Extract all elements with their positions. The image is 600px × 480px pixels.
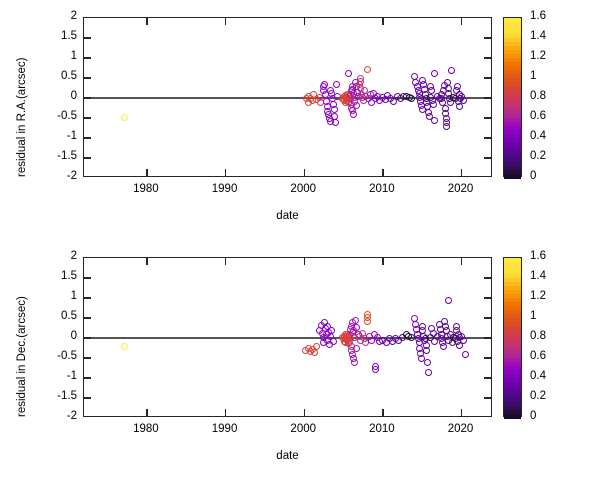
dec-x-tick-top [146,258,147,265]
data-point [408,95,415,102]
dec-x-tick-label: 1980 [116,424,176,436]
ra-y-tick-right [484,77,491,78]
dec-y-tick-label: 1.5 [39,271,77,283]
dec-y-tick [84,357,91,358]
dec-y-axis-title: residual in Dec.(arcsec) [16,296,28,417]
data-point [328,327,335,334]
ra-x-tick-label: 2010 [352,184,412,196]
data-point [313,343,320,350]
dec-x-axis-title: date [83,450,492,462]
data-point [353,324,360,331]
ra-y-tick-label: -0.5 [39,111,77,123]
data-point [453,323,460,330]
dec-colorbar-tick-label: 0.6 [530,351,546,363]
dec-x-tick-top [225,258,226,265]
ra-y-tick-label: 0 [39,91,77,103]
data-point [445,297,452,304]
ra-plot-area [83,17,492,177]
dec-x-tick [382,409,383,416]
data-point [357,78,364,85]
data-point [430,101,437,108]
dec-y-tick [84,297,91,298]
ra-x-tick-top [382,18,383,25]
dec-x-tick-label: 2000 [273,424,333,436]
ra-y-tick [84,97,91,98]
data-point [345,70,352,77]
data-point [460,97,467,104]
ra-y-tick-right [484,157,491,158]
data-point [440,343,447,350]
data-point [460,337,467,344]
ra-x-tick [225,169,226,176]
dec-y-tick-right [484,377,491,378]
dec-colorbar-tick-label: 1.2 [530,291,546,303]
dec-y-tick-right [484,277,491,278]
data-point [353,102,360,109]
data-point [448,67,455,74]
dec-y-tick [84,337,91,338]
ra-y-tick [84,77,91,78]
dec-colorbar-tick-label: 1 [530,311,536,323]
ra-y-tick-right [484,57,491,58]
data-point [350,111,357,118]
ra-y-tick-right [484,137,491,138]
ra-x-tick-label: 1990 [195,184,255,196]
dec-x-tick-top [461,258,462,265]
ra-x-tick-label: 1980 [116,184,176,196]
dec-colorbar-tick-label: 1.4 [530,271,546,283]
data-point [424,359,431,366]
dec-y-tick-right [484,337,491,338]
dec-y-tick [84,277,91,278]
ra-colorbar-tick-label: 0 [530,171,536,183]
data-point [353,345,360,352]
dec-x-tick-label: 2010 [352,424,412,436]
dec-x-tick-label: 1990 [195,424,255,436]
dec-y-tick-label: -1 [39,371,77,383]
dec-y-tick [84,397,91,398]
ra-y-tick-right [484,117,491,118]
ra-x-tick [304,169,305,176]
dec-y-tick [84,317,91,318]
dec-y-tick-right [484,297,491,298]
dec-plot-area [83,257,492,417]
ra-y-tick-right [484,97,491,98]
dec-y-tick-label: 0.5 [39,311,77,323]
data-point [364,311,371,318]
dec-data-layer [84,258,491,416]
dec-y-tick-label: -2 [39,411,77,423]
ra-x-axis-title: date [83,210,492,222]
panel-residual-ra: 21.510.50-0.5-1-1.5-21980199020002010202… [0,0,600,240]
dec-y-tick-right [484,397,491,398]
ra-y-tick-label: -2 [39,171,77,183]
ra-y-tick-label: -1.5 [39,151,77,163]
ra-colorbar-tick-label: 0.6 [530,111,546,123]
figure-residual-plots: 21.510.50-0.5-1-1.5-21980199020002010202… [0,0,600,480]
ra-colorbar-tick-label: 1.6 [530,11,546,23]
ra-x-tick-top [461,18,462,25]
ra-x-tick-label: 2020 [431,184,491,196]
ra-colorbar-tick-label: 0.4 [530,131,546,143]
data-point [462,351,469,358]
ra-y-tick [84,117,91,118]
data-point [431,117,438,124]
ra-colorbar-band [504,174,521,179]
dec-x-tick-top [304,258,305,265]
ra-y-tick [84,137,91,138]
ra-x-tick-label: 2000 [273,184,333,196]
data-point [352,317,359,324]
data-point [454,83,461,90]
data-point [330,338,337,345]
data-point [431,70,438,77]
dec-x-tick [461,409,462,416]
dec-y-tick-label: 2 [39,251,77,263]
dec-colorbar-tick-label: 1.6 [530,251,546,263]
ra-colorbar-tick-label: 0.8 [530,91,546,103]
ra-y-tick [84,57,91,58]
ra-y-axis-title: residual in R.A.(arcsec) [16,57,28,177]
ra-colorbar-tick-label: 1.2 [530,51,546,63]
data-point [333,81,340,88]
ra-y-tick-label: 2 [39,11,77,23]
dec-y-tick-label: 1 [39,291,77,303]
data-point [456,103,463,110]
data-point [425,369,432,376]
ra-x-tick [382,169,383,176]
panel-residual-dec: 21.510.50-0.5-1-1.5-21980199020002010202… [0,240,600,480]
ra-colorbar-tick-label: 1.4 [530,31,546,43]
data-point [443,123,450,130]
dec-colorbar-band [504,414,521,419]
ra-y-tick-label: 0.5 [39,71,77,83]
ra-y-tick-right [484,37,491,38]
dec-x-tick-label: 2020 [431,424,491,436]
ra-y-tick [84,157,91,158]
ra-colorbar [503,17,522,177]
dec-colorbar [503,257,522,417]
ra-data-layer [84,18,491,176]
dec-x-tick [225,409,226,416]
dec-x-tick-top [382,258,383,265]
data-point [423,347,430,354]
dec-x-tick [304,409,305,416]
ra-x-tick [146,169,147,176]
data-point [351,359,358,366]
dec-colorbar-tick-label: 0.4 [530,371,546,383]
ra-x-tick [461,169,462,176]
dec-colorbar-tick-label: 0.8 [530,331,546,343]
dec-y-tick-right [484,317,491,318]
ra-y-tick [84,37,91,38]
ra-x-tick-top [146,18,147,25]
data-point [121,343,128,350]
data-point [372,366,379,373]
data-point [121,114,128,121]
data-point [364,66,371,73]
ra-x-tick-top [304,18,305,25]
ra-colorbar-tick-label: 1 [530,71,536,83]
data-point [331,106,338,113]
dec-y-tick-label: -0.5 [39,351,77,363]
dec-colorbar-tick-label: 0 [530,411,536,423]
dec-y-tick-label: -1.5 [39,391,77,403]
ra-y-tick-label: -1 [39,131,77,143]
dec-x-tick [146,409,147,416]
ra-y-tick-label: 1.5 [39,31,77,43]
dec-y-tick-label: 0 [39,331,77,343]
data-point [332,119,339,126]
ra-colorbar-tick-label: 0.2 [530,151,546,163]
dec-y-tick-right [484,357,491,358]
ra-x-tick-top [225,18,226,25]
dec-y-tick [84,377,91,378]
dec-colorbar-tick-label: 0.2 [530,391,546,403]
ra-y-tick-label: 1 [39,51,77,63]
